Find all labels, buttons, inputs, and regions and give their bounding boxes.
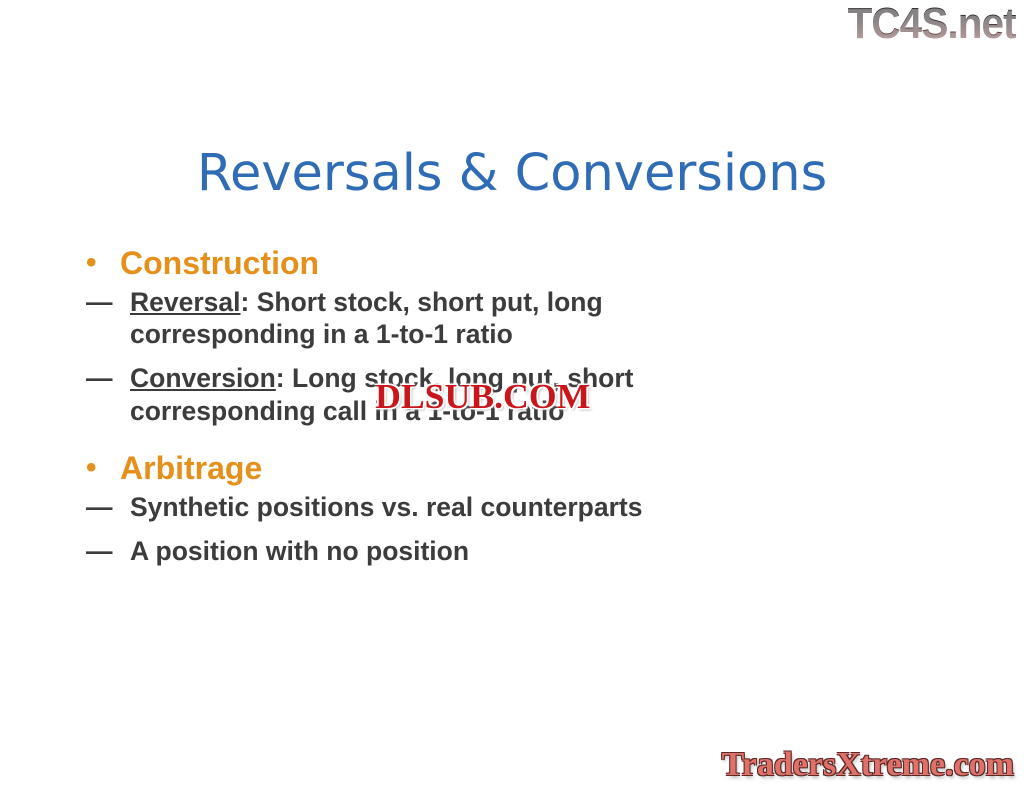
sub-bullet-synthetic-positions: — Synthetic positions vs. real counterpa… <box>86 491 916 523</box>
bullet-arbitrage: • Arbitrage <box>86 451 916 487</box>
bullet-arbitrage-label: Arbitrage <box>120 451 916 487</box>
em-dash-icon: — <box>86 535 130 567</box>
sub-bullets-arbitrage: — Synthetic positions vs. real counterpa… <box>86 491 916 568</box>
sub-bullet-synthetic-positions-text: Synthetic positions vs. real counterpart… <box>130 491 830 523</box>
sub-bullet-reversal-text: Reversal: Short stock, short put, long c… <box>130 286 730 351</box>
sub-bullet-reversal-lead: Reversal <box>130 287 241 317</box>
sub-bullet-no-position-text: A position with no position <box>130 535 830 567</box>
sub-bullet-no-position: — A position with no position <box>86 535 916 567</box>
spacer <box>86 352 916 362</box>
page-title: Reversals & Conversions <box>0 146 1024 201</box>
bullet-construction: • Construction <box>86 246 916 282</box>
tradersxtreme-watermark: TradersXtreme.com <box>722 747 1014 783</box>
presentation-slide: TC4S.net Reversals & Conversions • Const… <box>0 0 1024 791</box>
em-dash-icon: — <box>86 286 130 318</box>
bullet-dot-icon: • <box>86 451 120 485</box>
slide-body: • Construction — Reversal: Short stock, … <box>86 246 916 570</box>
sub-bullet-conversion-text: Conversion: Long stock, long put, short … <box>130 362 730 427</box>
bullet-dot-icon: • <box>86 246 120 280</box>
em-dash-icon: — <box>86 491 130 523</box>
spacer <box>86 525 916 535</box>
bullet-construction-label: Construction <box>120 246 916 282</box>
tc4s-brand-logo: TC4S.net <box>848 2 1016 46</box>
sub-bullets-construction: — Reversal: Short stock, short put, long… <box>86 286 916 427</box>
sub-bullet-reversal: — Reversal: Short stock, short put, long… <box>86 286 916 351</box>
sub-bullet-conversion-lead: Conversion <box>130 363 276 393</box>
spacer <box>86 429 916 451</box>
em-dash-icon: — <box>86 362 130 394</box>
sub-bullet-conversion: — Conversion: Long stock, long put, shor… <box>86 362 916 427</box>
